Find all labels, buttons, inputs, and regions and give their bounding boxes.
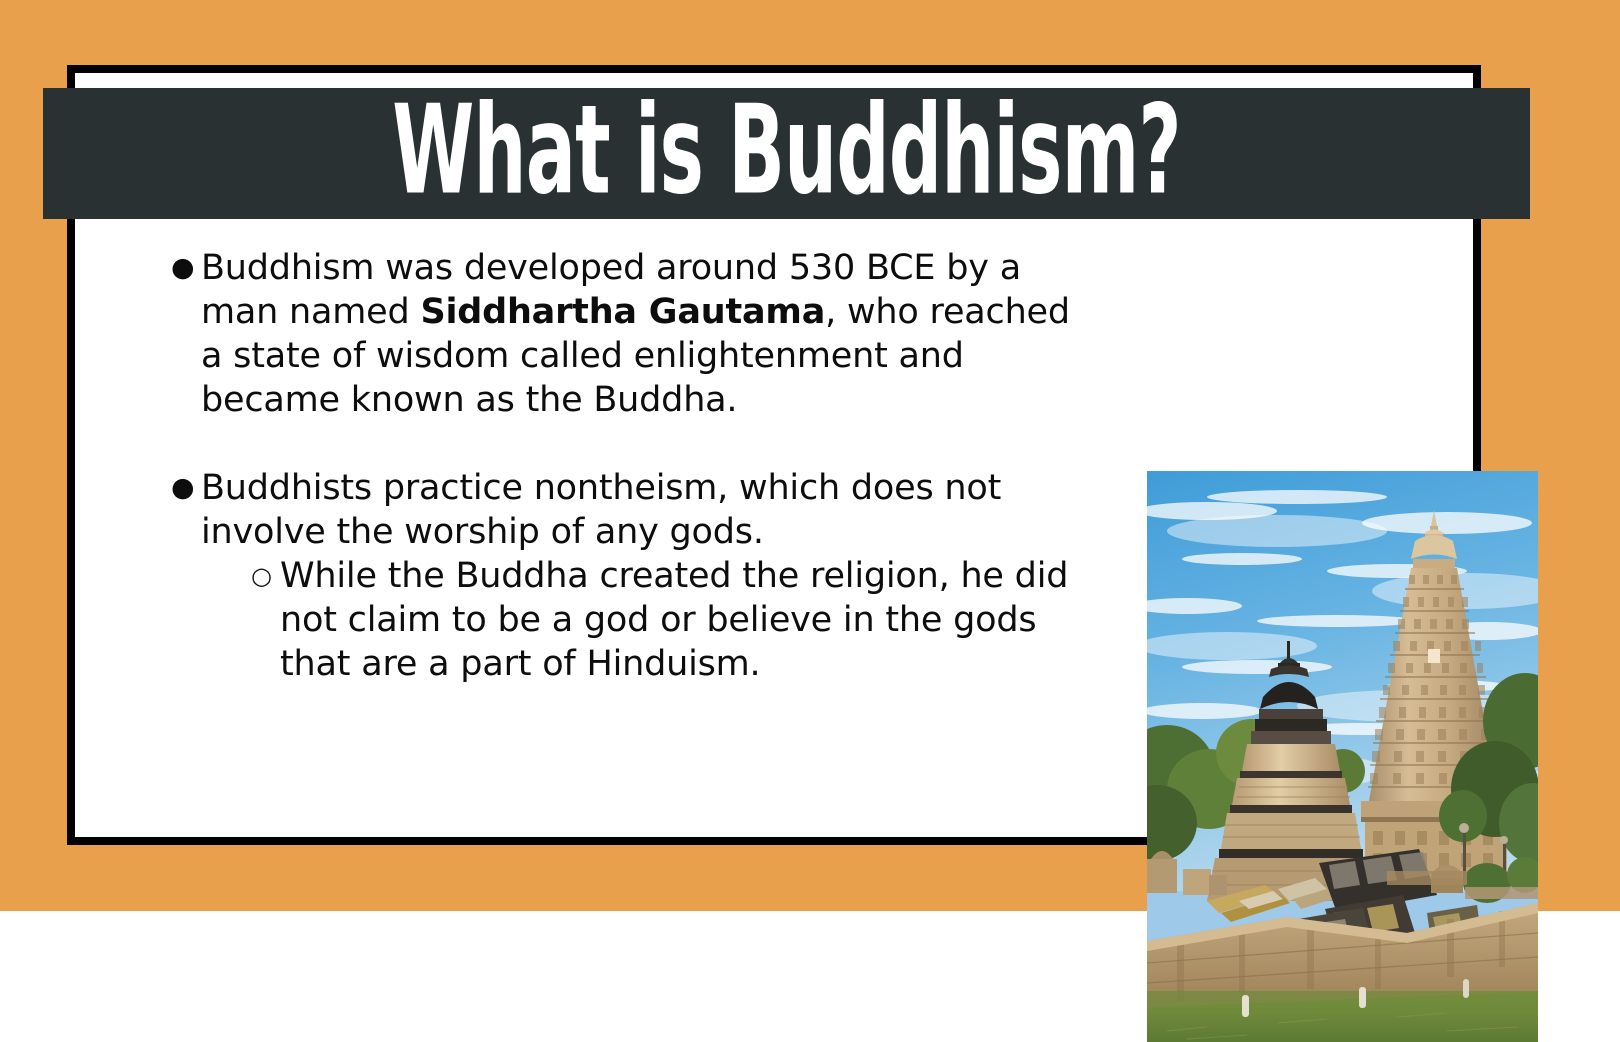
bullet-marker-hollow-icon: ○ <box>251 554 273 598</box>
list-item: ●Buddhists practice nontheism, which doe… <box>123 466 1083 554</box>
bullet-3-text: While the Buddha created the religion, h… <box>280 556 1068 684</box>
sub-list-item: ○While the Buddha created the religion, … <box>123 554 1083 686</box>
slide-canvas: What is Buddhism? ●Buddhism was develope… <box>0 0 1620 911</box>
photo-artwork <box>1147 471 1538 1042</box>
mahabodhi-temple-photo <box>1147 471 1538 1042</box>
bullet-2-text: Buddhists practice nontheism, which does… <box>201 468 1001 552</box>
list-item: ●Buddhism was developed around 530 BCE b… <box>123 246 1083 422</box>
bullet-block-2: ●Buddhists practice nontheism, which doe… <box>123 466 1083 686</box>
slide-content: ●Buddhism was developed around 530 BCE b… <box>75 228 1473 838</box>
bullet-list: ●Buddhism was developed around 530 BCE b… <box>123 246 1083 686</box>
bullet-block-1: ●Buddhism was developed around 530 BCE b… <box>123 246 1083 422</box>
page-title: What is Buddhism? <box>392 89 1181 219</box>
bullet-marker-filled-icon: ● <box>171 246 191 290</box>
title-banner: What is Buddhism? <box>43 88 1530 219</box>
bullet-marker-filled-icon: ● <box>171 466 191 510</box>
bullet-1-bold-name: Siddhartha Gautama <box>420 292 825 332</box>
